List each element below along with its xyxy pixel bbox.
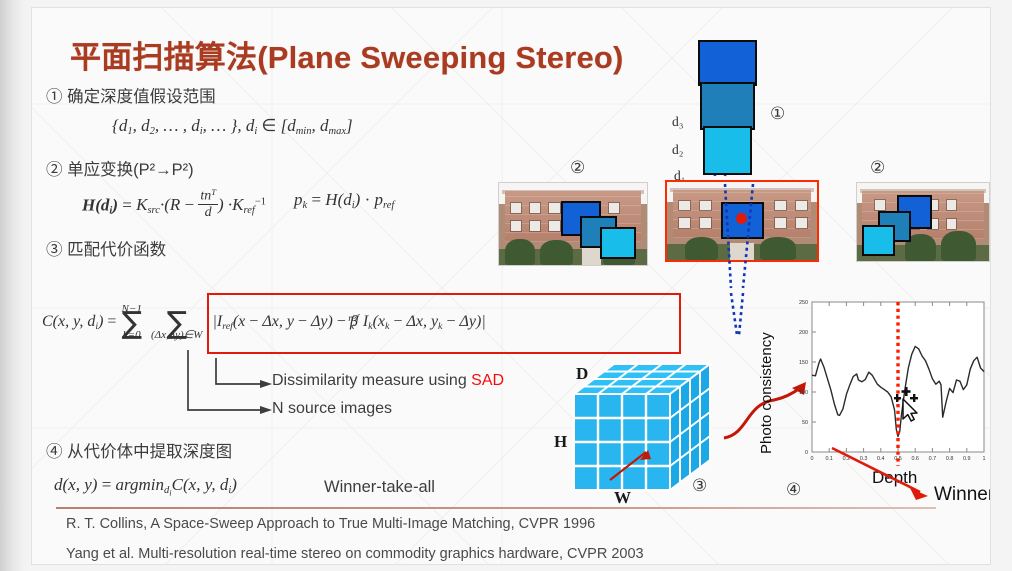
source-photo-right [856,182,990,262]
annotation-n-source-images: N source images [272,400,392,418]
marker-circle-1: ① [770,104,785,124]
formula-homography: H(di) = Ksrc·(R − tnTd) ·Kref−1 [82,188,266,221]
annotation-dissimilarity-text: Dissimilarity measure using [272,372,471,389]
step-4-label: 从代价体中提取深度图 [67,443,232,461]
cube-label-width: W [614,488,631,508]
svg-text:200: 200 [799,330,808,336]
svg-text:50: 50 [802,420,808,426]
step-3: ③ 匹配代价函数 [46,236,166,260]
chart-y-axis-label: Photo consistency [758,332,775,454]
cube-label-depth: D [576,364,588,384]
presentation-frame: 平面扫描算法(Plane Sweeping Stereo) ① 确定深度值假设范… [0,0,1012,571]
annotation-dissimilarity: Dissimilarity measure using SAD [272,372,504,390]
reference-image-group [657,176,822,296]
slide-canvas: 平面扫描算法(Plane Sweeping Stereo) ① 确定深度值假设范… [32,8,990,564]
depth-plane-d3 [698,40,757,86]
marker-circle-3: ③ [692,476,707,496]
marker-circle-2-left: ② [570,158,585,178]
source-image-right-group: ② [852,158,990,273]
formula-cost-function: C(x, y, di) = N−1∑k=0 ∑(Δx,Δy)∈W |Iref(x… [42,304,486,341]
formula-projection: pk = H(di) · pref [294,190,394,211]
svg-text:100: 100 [799,390,808,396]
step-3-marker: ③ [46,241,63,259]
depth-plane-d2 [700,82,755,130]
step-2-label: 单应变换(P²→P²) [67,161,194,179]
cube-label-height: H [554,432,567,452]
svg-text:0: 0 [811,456,814,462]
step-2-marker: ② [46,161,63,179]
formula-argmin: d(x, y) = argmindiC(x, y, di) [54,475,237,497]
depth-plane-d1 [703,126,752,175]
step-4-marker: ④ [46,443,63,461]
winner-arrow [824,444,954,504]
step-2: ② 单应变换(P²→P²) [46,156,194,180]
annotation-sad-label: SAD [471,372,504,389]
step-1-marker: ① [46,88,63,106]
step-3-label: 匹配代价函数 [67,241,166,259]
photo-consistency-chart: Photo consistency 05010015020025000.10.2… [744,294,990,509]
mouse-cursor [894,386,928,422]
svg-text:150: 150 [799,360,808,366]
marker-circle-2-right: ② [870,158,885,178]
step-1-label: 确定深度值假设范围 [67,88,216,106]
step-4: ④ 从代价体中提取深度图 [46,438,232,462]
svg-text:0: 0 [805,450,808,456]
page-title: 平面扫描算法(Plane Sweeping Stereo) [70,32,624,77]
formula-depth-range: {d1, d2, … , di, … }, di ∈ [dmin, dmax] [112,116,353,137]
marker-circle-4: ④ [786,480,801,500]
svg-text:1: 1 [983,456,986,462]
depth-label-d2: d₂ [672,142,683,158]
svg-text:0.9: 0.9 [963,456,971,462]
svg-text:250: 250 [799,300,808,306]
cost-volume-cube: D H W ③ [552,360,742,505]
reference-1: R. T. Collins, A Space-Sweep Approach to… [66,516,595,532]
source-patch-near [600,227,637,259]
annotation-winner-take-all: Winner-take-all [324,478,435,497]
source-patch-near-right [862,225,895,256]
source-image-left-group: ② [492,158,652,273]
source-photo-left [498,182,648,266]
step-1: ① 确定深度值假设范围 [46,83,216,107]
reference-2: Yang et al. Multi-resolution real-time s… [66,546,644,562]
depth-label-d3: d₃ [672,114,683,130]
